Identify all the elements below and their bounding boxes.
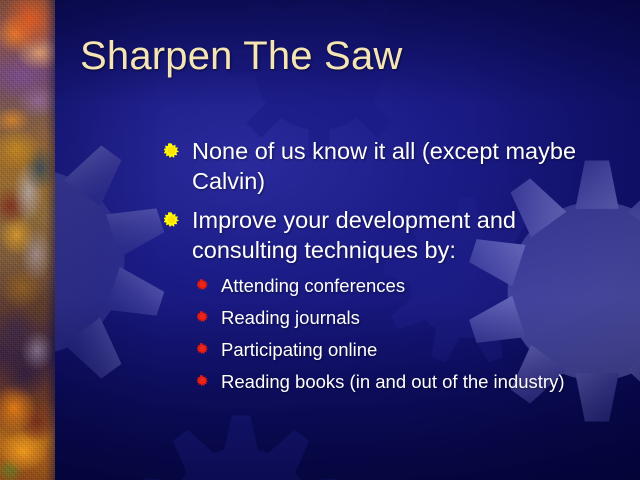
painterly-texture-border <box>0 0 55 480</box>
list-item-text: Improve your development and consulting … <box>192 207 516 263</box>
red-sunburst-bullet-icon <box>197 279 208 290</box>
list-item: None of us know it all (except maybe Cal… <box>163 136 625 196</box>
list-item-text: None of us know it all (except maybe Cal… <box>192 138 576 194</box>
list-item: Attending conferences <box>195 274 625 298</box>
list-item-text: Reading books (in and out of the industr… <box>221 371 565 392</box>
list-item: Reading books (in and out of the industr… <box>195 370 625 394</box>
list-item-text: Reading journals <box>221 307 360 328</box>
page-title: Sharpen The Saw <box>80 33 600 79</box>
sub-list: Attending conferences Reading journals <box>163 274 625 394</box>
list-item: Reading journals <box>195 306 625 330</box>
red-sunburst-bullet-icon <box>197 343 208 354</box>
list-item: Improve your development and consulting … <box>163 205 625 265</box>
list-item: Participating online <box>195 338 625 362</box>
yellow-sunburst-bullet-icon <box>164 212 179 227</box>
list-item-text: Attending conferences <box>221 275 405 296</box>
yellow-sunburst-bullet-icon <box>164 143 179 158</box>
list-item-text: Participating online <box>221 339 377 360</box>
red-sunburst-bullet-icon <box>197 375 208 386</box>
red-sunburst-bullet-icon <box>197 311 208 322</box>
slide-body: None of us know it all (except maybe Cal… <box>163 136 625 402</box>
presentation-slide: Sharpen The Saw None of us know it all (… <box>0 0 640 480</box>
